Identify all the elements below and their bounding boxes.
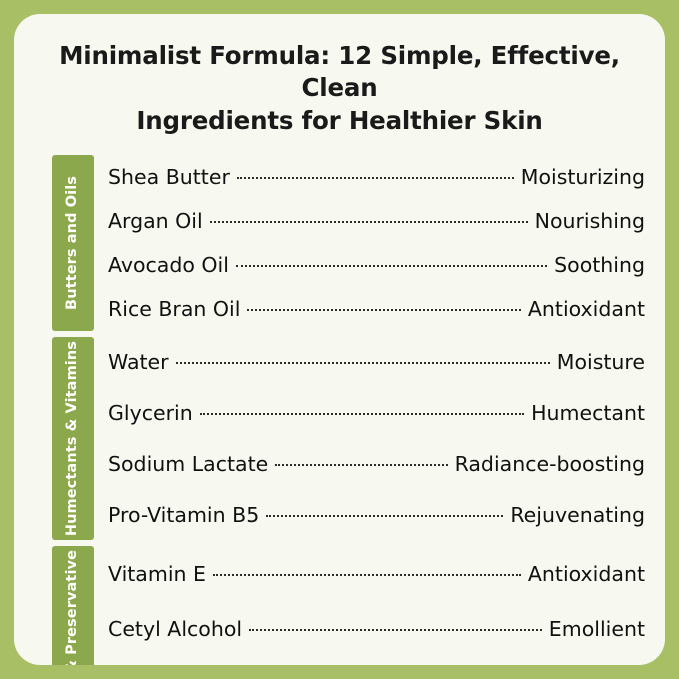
leader-dots — [176, 362, 550, 364]
page-title-line-2: Ingredients for Healthier Skin — [40, 105, 639, 137]
ingredient-name: Shea Butter — [108, 155, 230, 199]
ingredient-group: Emulsifies & Preservative Vitamin E Anti… — [52, 546, 645, 665]
list-item: Emulsifying Wax Moisture-locking — [108, 662, 645, 665]
ingredient-name: Emulsifying Wax — [108, 662, 277, 665]
ingredient-name: Argan Oil — [108, 199, 203, 243]
group-tab-emulsifies-and-preservative: Emulsifies & Preservative — [52, 546, 94, 665]
list-item: Argan Oil Nourishing — [108, 199, 645, 243]
group-rows: Water Moisture Glycerin Humectant Sodium… — [94, 337, 645, 540]
list-item: Vitamin E Antioxidant — [108, 552, 645, 596]
ingredient-name: Sodium Lactate — [108, 442, 268, 486]
ingredient-benefit: Rejuvenating — [510, 493, 645, 537]
ingredient-name: Pro-Vitamin B5 — [108, 493, 259, 537]
ingredient-group: Butters and Oils Shea Butter Moisturizin… — [52, 155, 645, 331]
list-item: Avocado Oil Soothing — [108, 243, 645, 287]
ingredient-name: Cetyl Alcohol — [108, 607, 242, 651]
ingredient-benefit: Moisture — [557, 340, 645, 384]
ingredient-group: Humectants & Vitamins Water Moisture Gly… — [52, 337, 645, 540]
ingredient-benefit: Emollient — [549, 607, 645, 651]
leader-dots — [237, 177, 514, 179]
ingredient-name: Water — [108, 340, 169, 384]
group-tab-label: Emulsifies & Preservative — [64, 546, 82, 665]
list-item: Rice Bran Oil Antioxidant — [108, 287, 645, 331]
ingredient-name: Vitamin E — [108, 552, 206, 596]
leader-dots — [200, 413, 524, 415]
page-title: Minimalist Formula: 12 Simple, Effective… — [14, 14, 665, 137]
ingredient-benefit: Soothing — [554, 243, 645, 287]
group-tab-humectants-and-vitamins: Humectants & Vitamins — [52, 337, 94, 540]
ingredient-name: Rice Bran Oil — [108, 287, 240, 331]
leader-dots — [275, 464, 447, 466]
leader-dots — [210, 221, 528, 223]
list-item: Cetyl Alcohol Emollient — [108, 607, 645, 651]
ingredient-benefit: Nourishing — [535, 199, 645, 243]
group-rows: Shea Butter Moisturizing Argan Oil Nouri… — [94, 155, 645, 331]
list-item: Shea Butter Moisturizing — [108, 155, 645, 199]
list-item: Glycerin Humectant — [108, 391, 645, 435]
leader-dots — [249, 629, 542, 631]
ingredient-groups: Butters and Oils Shea Butter Moisturizin… — [14, 155, 665, 665]
leader-dots — [236, 265, 547, 267]
group-rows: Vitamin E Antioxidant Cetyl Alcohol Emol… — [94, 546, 645, 665]
leader-dots — [247, 309, 520, 311]
list-item: Sodium Lactate Radiance-boosting — [108, 442, 645, 486]
list-item: Water Moisture — [108, 340, 645, 384]
ingredient-name: Avocado Oil — [108, 243, 229, 287]
group-tab-label: Humectants & Vitamins — [64, 337, 82, 540]
leader-dots — [266, 515, 503, 517]
ingredient-benefit: Moisturizing — [521, 155, 645, 199]
page-title-line-1: Minimalist Formula: 12 Simple, Effective… — [40, 40, 639, 105]
list-item: Pro-Vitamin B5 Rejuvenating — [108, 493, 645, 537]
ingredient-benefit: Radiance-boosting — [455, 442, 645, 486]
ingredient-benefit: Moisture-locking — [476, 662, 645, 665]
leader-dots — [213, 574, 521, 576]
ingredient-benefit: Antioxidant — [528, 287, 645, 331]
group-tab-label: Butters and Oils — [64, 172, 82, 314]
ingredient-name: Glycerin — [108, 391, 193, 435]
infographic-card: Minimalist Formula: 12 Simple, Effective… — [14, 14, 665, 665]
ingredient-benefit: Humectant — [531, 391, 645, 435]
group-tab-butters-and-oils: Butters and Oils — [52, 155, 94, 331]
ingredient-benefit: Antioxidant — [528, 552, 645, 596]
